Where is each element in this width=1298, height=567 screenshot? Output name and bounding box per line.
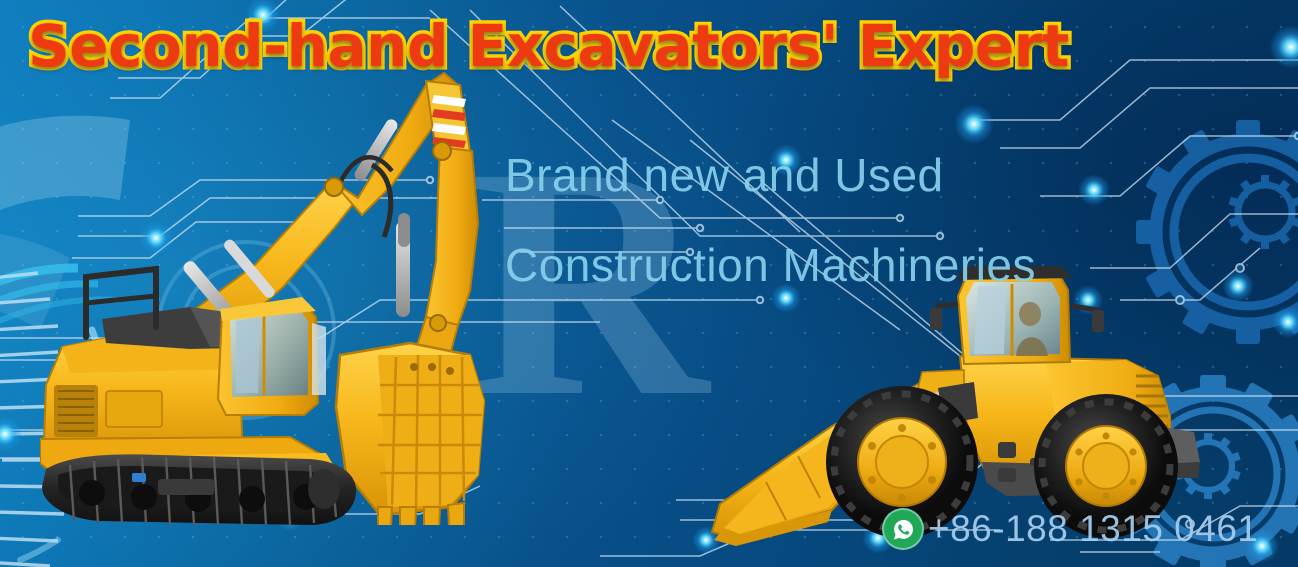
subtitle-line-1: Brand new and Used — [505, 148, 944, 202]
excavator-image — [40, 55, 520, 525]
contact-phone-row[interactable]: +86-188 1315 0461 — [882, 508, 1259, 550]
page-title: Second-hand Excavators' Expert — [28, 12, 1069, 80]
promo-banner: R — [0, 0, 1298, 567]
whatsapp-icon[interactable] — [882, 508, 924, 550]
phone-number[interactable]: +86-188 1315 0461 — [928, 508, 1259, 550]
subtitle-line-2: Construction Machineries — [505, 238, 1036, 292]
